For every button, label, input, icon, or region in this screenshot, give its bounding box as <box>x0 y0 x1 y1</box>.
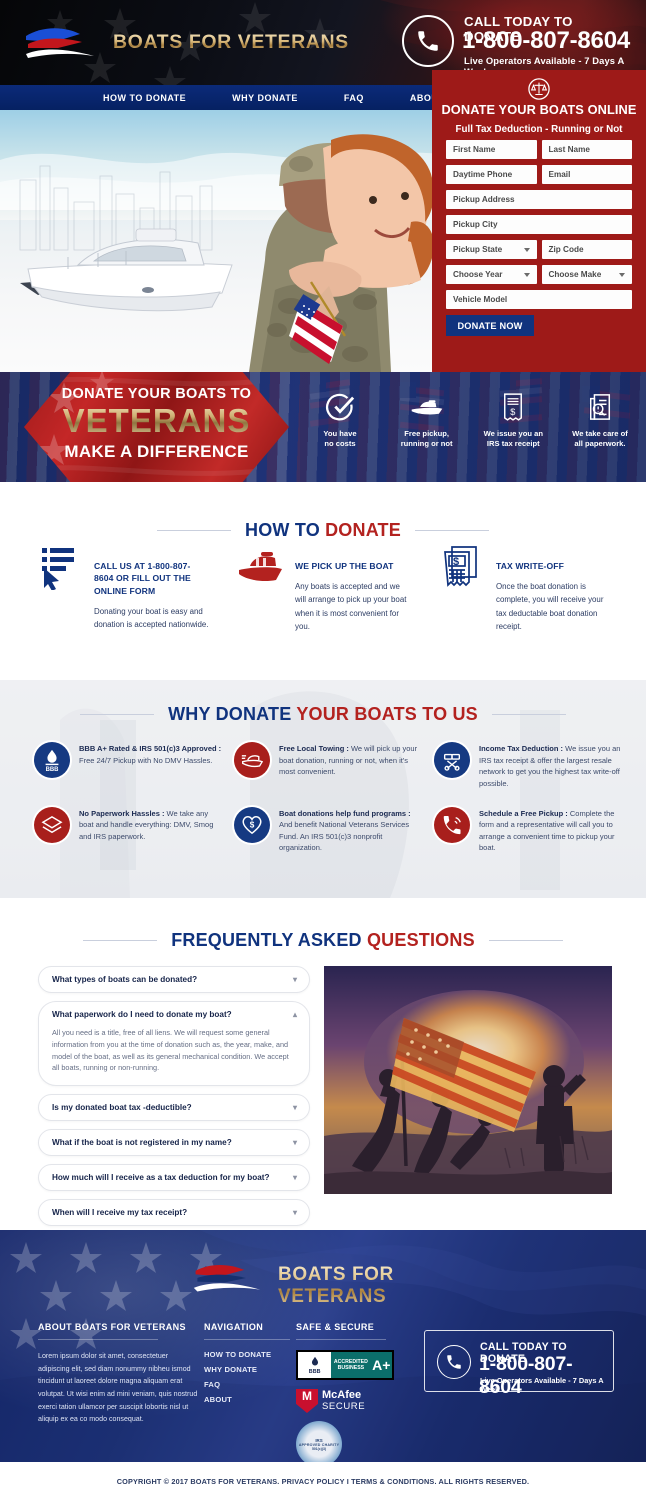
how-steps-row: CALL US AT 1-800-807-8604 OR FILL OUT TH… <box>22 544 626 633</box>
header-phone-number[interactable]: 1-800-807-8604 <box>462 27 630 55</box>
pickup-city-input[interactable]: Pickup City <box>446 215 632 234</box>
boat-logo-icon <box>192 1258 264 1298</box>
donation-form-panel: DONATE YOUR BOATS ONLINE Full Tax Deduct… <box>432 70 646 372</box>
perk-irs-receipt: $ We issue you an IRS tax receipt <box>473 390 553 450</box>
irs-approved-charity-seal: IRS APPROVED CHARITY 501(c)(3) <box>296 1421 342 1462</box>
phone-icon <box>402 15 454 67</box>
faq-item[interactable]: What if the boat is not registered in my… <box>38 1129 310 1156</box>
donate-banner: DONATE YOUR BOATS TO VETERANS MAKE A DIF… <box>0 372 646 482</box>
chevron-down-icon <box>619 273 625 277</box>
phone-icon <box>437 1345 471 1379</box>
divider-line <box>157 530 231 531</box>
check-circle-icon <box>300 390 380 424</box>
faq-question[interactable]: When will I receive my tax receipt? ▾ <box>39 1200 309 1225</box>
boat-logo-icon <box>24 22 100 64</box>
bbb-icon: BBB <box>34 742 70 778</box>
boat-icon <box>237 544 283 590</box>
how-step-body: Any boats is accepted and we will arrang… <box>295 580 410 632</box>
copyright-bar: COPYRIGHT © 2017 BOATS FOR VETERANS. PRI… <box>0 1462 646 1500</box>
why-row: No Paperwork Hassles : We take any boat … <box>34 807 624 855</box>
form-title: DONATE YOUR BOATS ONLINE <box>432 102 646 117</box>
faq-title-row: FREQUENTLY ASKED QUESTIONS <box>0 930 646 951</box>
svg-text:BBB: BBB <box>46 767 60 772</box>
divider-line <box>489 940 563 941</box>
form-cursor-icon <box>36 544 82 590</box>
chevron-down-icon: ▾ <box>293 1104 297 1112</box>
faq-item[interactable]: How much will I receive as a tax deducti… <box>38 1164 310 1191</box>
mcafee-secure-badge[interactable]: M McAfee SECURE <box>296 1389 416 1413</box>
site-footer: BOATS FOR VETERANS ABOUT BOATS FOR VETER… <box>0 1230 646 1462</box>
pickup-state-select[interactable]: Pickup State <box>446 240 537 259</box>
divider-line <box>83 940 157 941</box>
faq-question[interactable]: What paperwork do I need to donate my bo… <box>39 1002 309 1027</box>
chevron-down-icon: ▾ <box>293 1174 297 1182</box>
chevron-up-icon: ▴ <box>293 1011 297 1019</box>
faq-item[interactable]: What paperwork do I need to donate my bo… <box>38 1001 310 1086</box>
bbb-accredited-badge[interactable]: BBB ACCREDITED BUSINESS A+ <box>296 1350 394 1380</box>
why-item-text: Boat donations help fund programs : And … <box>279 807 422 855</box>
why-donate-section: WHY DONATE YOUR BOATS TO US BBB BBB A+ R… <box>0 680 646 898</box>
footer-call-box: CALL TODAY TO DONATE 1-800-807-8604 Live… <box>424 1330 614 1392</box>
perk-free-pickup: Free pickup, running or not <box>387 390 467 450</box>
chevron-down-icon <box>524 273 530 277</box>
faq-section-title: FREQUENTLY ASKED QUESTIONS <box>171 930 475 951</box>
site-brand-title: BOATS FOR VETERANS <box>113 31 349 54</box>
why-section-title: WHY DONATE YOUR BOATS TO US <box>168 704 478 725</box>
tax-receipt-icon: $ <box>438 544 484 590</box>
svg-text:$: $ <box>250 821 255 830</box>
footer-operators-note: Live Operators Available - 7 Days A Week <box>480 1376 613 1394</box>
how-step-body: Once the boat donation is complete, you … <box>496 580 611 632</box>
how-step-body: Donating your boat is easy and donation … <box>94 605 209 631</box>
footer-logo-block: BOATS FOR VETERANS <box>192 1256 456 1298</box>
vehicle-model-input[interactable]: Vehicle Model <box>446 290 632 309</box>
divider-line <box>296 1339 386 1340</box>
how-to-donate-section: HOW TO DONATE CALL US AT 1-800-807-8604 … <box>0 482 646 680</box>
scissors-money-icon <box>434 742 470 778</box>
nav-item-why-donate[interactable]: WHY DONATE <box>209 93 321 103</box>
how-step-call-us: CALL US AT 1-800-807-8604 OR FILL OUT TH… <box>22 544 223 633</box>
chevron-down-icon: ▾ <box>293 976 297 984</box>
why-item-bbb: BBB BBB A+ Rated & IRS 501(c)3 Approved … <box>34 742 222 790</box>
soldier-and-child-photo <box>205 130 445 372</box>
faq-section: FREQUENTLY ASKED QUESTIONS What types of… <box>0 898 646 1230</box>
why-item-text: BBB A+ Rated & IRS 501(c)3 Approved : Fr… <box>79 742 222 790</box>
footer-about-heading: ABOUT BOATS FOR VETERANS <box>38 1322 198 1339</box>
footer-brand-title: BOATS FOR VETERANS <box>278 1264 456 1308</box>
footer-about-column: ABOUT BOATS FOR VETERANS Lorem ipsum dol… <box>38 1322 198 1426</box>
footer-about-text: Lorem ipsum dolor sit amet, consectetuer… <box>38 1350 198 1426</box>
perk-no-costs: You have no costs <box>300 390 380 450</box>
perk-label: Free pickup, running or not <box>387 429 467 450</box>
last-name-input[interactable]: Last Name <box>542 140 633 159</box>
faq-question-text: What types of boats can be donated? <box>52 975 197 984</box>
chevron-down-icon: ▾ <box>293 1139 297 1147</box>
faq-question-text: What if the boat is not registered in my… <box>52 1138 232 1147</box>
divider-line <box>492 714 566 715</box>
header-call-block: CALL TODAY TO DONATE 1-800-807-8604 Live… <box>402 10 632 72</box>
choose-make-value: Choose Make <box>549 270 602 279</box>
scales-seal-icon <box>528 78 550 100</box>
why-item-no-paperwork: No Paperwork Hassles : We take any boat … <box>34 807 222 855</box>
svg-text:$: $ <box>453 556 459 568</box>
faq-image <box>324 966 612 1194</box>
faq-question[interactable]: Is my donated boat tax -deductible? ▾ <box>39 1095 309 1120</box>
choose-make-select[interactable]: Choose Make <box>542 265 633 284</box>
donation-form-fields: First Name Last Name Daytime Phone Email… <box>446 140 632 336</box>
faq-question-text: Is my donated boat tax -deductible? <box>52 1103 192 1112</box>
donate-now-button[interactable]: DONATE NOW <box>446 315 534 336</box>
divider-line <box>415 530 489 531</box>
nav-item-how-to-donate[interactable]: HOW TO DONATE <box>80 93 209 103</box>
mcafee-shield-icon: M <box>296 1389 318 1413</box>
mcafee-text: McAfee SECURE <box>322 1390 365 1412</box>
receipt-icon: $ <box>473 390 553 424</box>
divider-line <box>204 1339 290 1340</box>
bbb-label: BBB <box>309 1369 321 1375</box>
document-search-icon <box>560 390 640 424</box>
banner-line-3: MAKE A DIFFERENCE <box>24 442 289 462</box>
chevron-down-icon <box>524 248 530 252</box>
zip-code-input[interactable]: Zip Code <box>542 240 633 259</box>
how-step-pickup: WE PICK UP THE BOAT Any boats is accepte… <box>223 544 424 633</box>
why-item-free-pickup: Schedule a Free Pickup : Complete the fo… <box>434 807 622 855</box>
banner-hexagon: DONATE YOUR BOATS TO VETERANS MAKE A DIF… <box>24 372 289 482</box>
chevron-down-icon: ▾ <box>293 1209 297 1217</box>
first-name-input[interactable]: First Name <box>446 140 537 159</box>
boat-icon <box>387 390 467 424</box>
why-item-income-tax: Income Tax Deduction : We issue you an I… <box>434 742 622 790</box>
faq-question[interactable]: What types of boats can be donated? ▾ <box>39 967 309 992</box>
pickup-address-input[interactable]: Pickup Address <box>446 190 632 209</box>
perk-label: We issue you an IRS tax receipt <box>473 429 553 450</box>
faq-item[interactable]: When will I receive my tax receipt? ▾ <box>38 1199 310 1226</box>
nav-item-faq[interactable]: FAQ <box>321 93 387 103</box>
why-item-free-towing: Free Local Towing : We will pick up your… <box>234 742 422 790</box>
banner-line-2: VETERANS <box>24 402 289 440</box>
boat-icon <box>234 742 270 778</box>
faq-question[interactable]: What if the boat is not registered in my… <box>39 1130 309 1155</box>
how-title-row: HOW TO DONATE <box>0 520 646 541</box>
svg-text:$: $ <box>511 407 516 417</box>
divider-line <box>80 714 154 715</box>
perk-label: We take care of all paperwork. <box>560 429 640 450</box>
why-title-row: WHY DONATE YOUR BOATS TO US <box>0 704 646 725</box>
divider-line <box>38 1339 158 1340</box>
faq-question[interactable]: How much will I receive as a tax deducti… <box>39 1165 309 1190</box>
choose-year-value: Choose Year <box>453 270 502 279</box>
banner-line-1: DONATE YOUR BOATS TO <box>24 386 289 402</box>
heart-dollar-icon: $ <box>234 807 270 843</box>
layers-icon <box>34 807 70 843</box>
bbb-logo-icon: BBB <box>298 1352 331 1378</box>
how-step-heading: WE PICK UP THE BOAT <box>295 544 410 572</box>
why-item-text: Income Tax Deduction : We issue you an I… <box>479 742 622 790</box>
faq-question-text: How much will I receive as a tax deducti… <box>52 1173 269 1182</box>
faq-answer: All you need is a title, free of all lie… <box>39 1027 309 1085</box>
soldiers-flag-sunset-graphic <box>324 966 612 1194</box>
faq-question-text: What paperwork do I need to donate my bo… <box>52 1010 232 1019</box>
why-item-text: No Paperwork Hassles : We take any boat … <box>79 807 222 855</box>
choose-year-select[interactable]: Choose Year <box>446 265 537 284</box>
faq-item[interactable]: Is my donated boat tax -deductible? ▾ <box>38 1094 310 1121</box>
footer-safe-heading: SAFE & SECURE <box>296 1322 416 1339</box>
why-item-text: Free Local Towing : We will pick up your… <box>279 742 422 790</box>
why-item-fund-programs: $ Boat donations help fund programs : An… <box>234 807 422 855</box>
faq-accordion: What types of boats can be donated? ▾ Wh… <box>38 966 310 1269</box>
footer-safe-secure-column: SAFE & SECURE BBB ACCREDITED BUSINESS A+… <box>296 1322 416 1462</box>
daytime-phone-input[interactable]: Daytime Phone <box>446 165 537 184</box>
pickup-state-value: Pickup State <box>453 245 502 254</box>
why-item-text: Schedule a Free Pickup : Complete the fo… <box>479 807 622 855</box>
banner-perks: You have no costs Free pickup, running o… <box>300 390 640 450</box>
why-row: BBB BBB A+ Rated & IRS 501(c)3 Approved … <box>34 742 624 790</box>
bbb-accredited-text: ACCREDITED BUSINESS <box>331 1352 370 1378</box>
perk-paperwork: We take care of all paperwork. <box>560 390 640 450</box>
faq-item[interactable]: What types of boats can be donated? ▾ <box>38 966 310 993</box>
how-step-heading: CALL US AT 1-800-807-8604 OR FILL OUT TH… <box>94 544 209 597</box>
why-items-grid: BBB BBB A+ Rated & IRS 501(c)3 Approved … <box>34 742 624 871</box>
form-subtitle: Full Tax Deduction - Running or Not <box>432 124 646 135</box>
phone-ring-icon <box>434 807 470 843</box>
email-input[interactable]: Email <box>542 165 633 184</box>
faq-question-text: When will I receive my tax receipt? <box>52 1208 187 1217</box>
how-section-title: HOW TO DONATE <box>245 520 401 541</box>
how-step-tax-write-off: $ TAX WRITE-OFF Once the boat donation i… <box>424 544 625 633</box>
perk-label: You have no costs <box>300 429 380 450</box>
how-step-heading: TAX WRITE-OFF <box>496 544 611 572</box>
bbb-grade: A+ <box>370 1352 392 1378</box>
